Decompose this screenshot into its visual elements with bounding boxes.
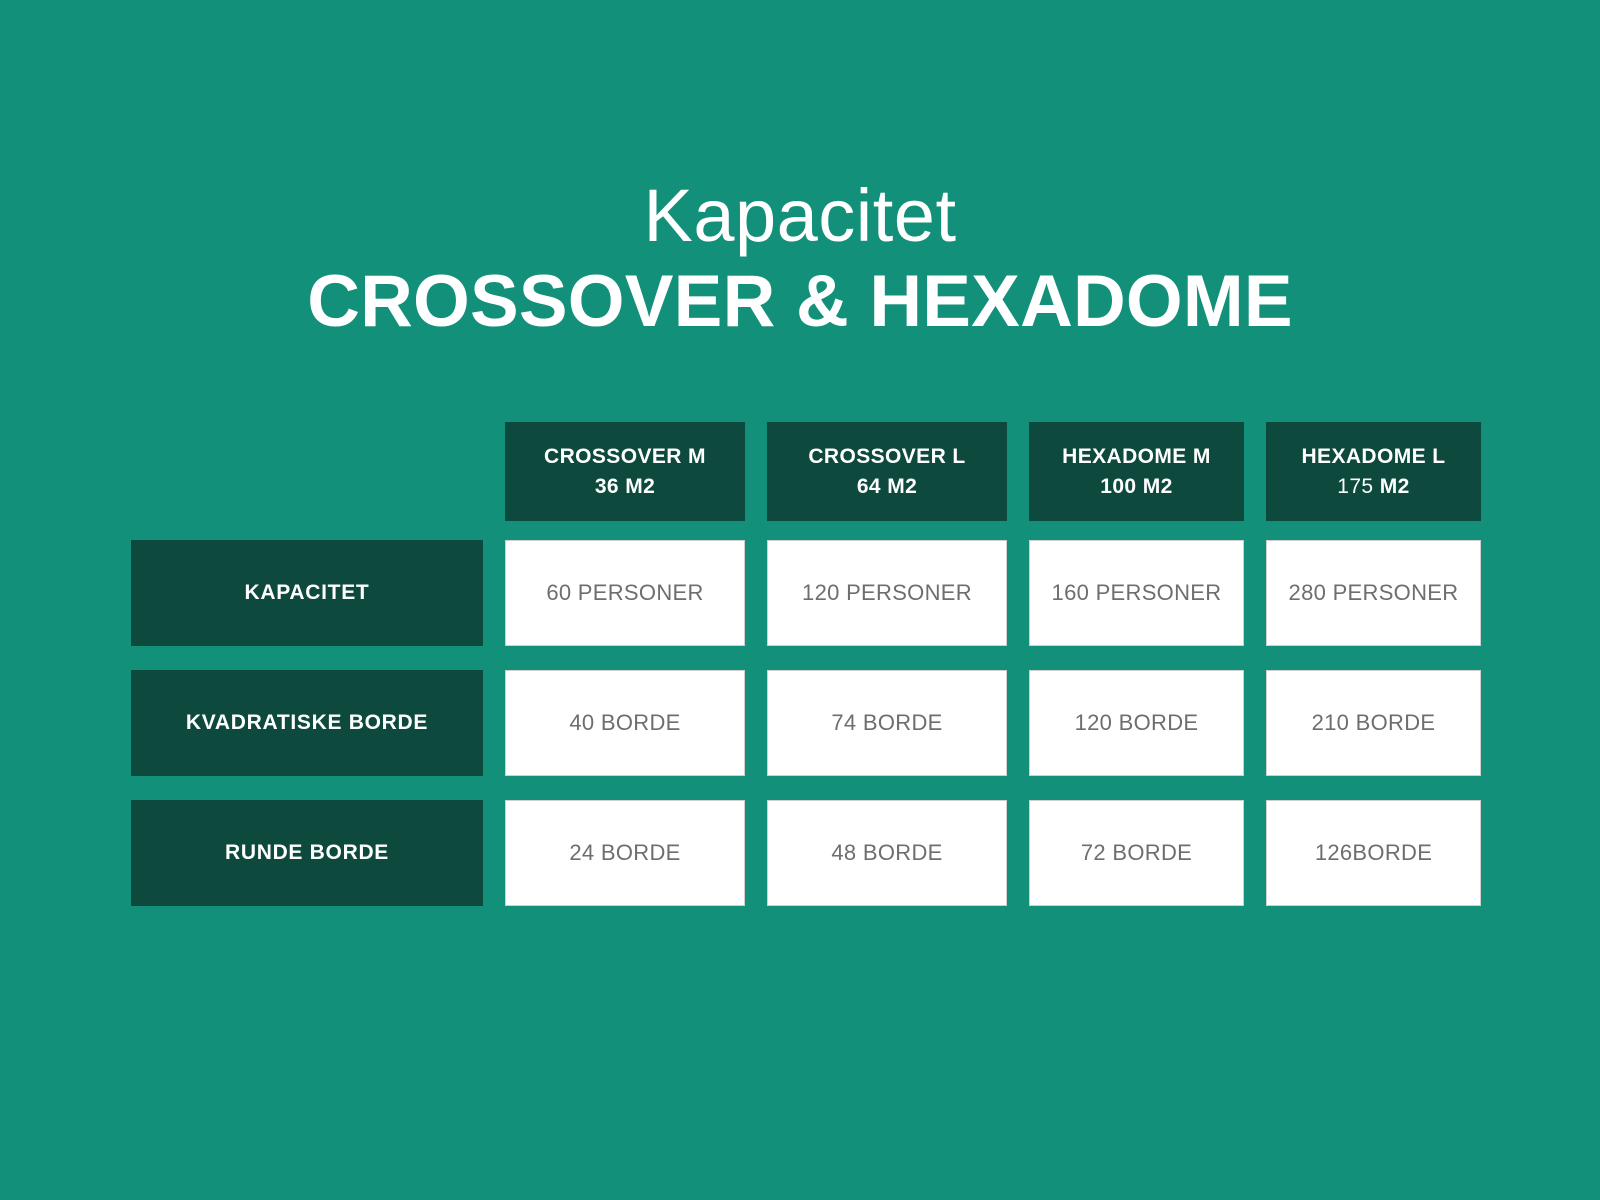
table-cell: 72 BORDE bbox=[1029, 800, 1244, 906]
column-header-hexadome-m: HEXADOME M 100 M2 bbox=[1029, 422, 1244, 521]
table-row: KVADRATISKE BORDE 40 BORDE 74 BORDE 120 … bbox=[131, 670, 1441, 776]
row-header-kvadratiske-borde: KVADRATISKE BORDE bbox=[131, 670, 483, 776]
table-row: RUNDE BORDE 24 BORDE 48 BORDE 72 BORDE 1… bbox=[131, 800, 1441, 906]
column-header-area-unit: M2 bbox=[1380, 475, 1410, 498]
column-header-name: CROSSOVER M bbox=[544, 442, 706, 472]
column-header-area: 64 M2 bbox=[857, 472, 917, 502]
table-cell: 24 BORDE bbox=[505, 800, 745, 906]
capacity-slide: Kapacitet CROSSOVER & HEXADOME CROSSOVER… bbox=[0, 0, 1600, 1200]
table-cell: 74 BORDE bbox=[767, 670, 1007, 776]
column-header-area: 36 M2 bbox=[595, 472, 655, 502]
table-cell: 126BORDE bbox=[1266, 800, 1481, 906]
table-row: KAPACITET 60 PERSONER 120 PERSONER 160 P… bbox=[131, 540, 1441, 646]
column-header-name: CROSSOVER L bbox=[808, 442, 965, 472]
table-header-row: CROSSOVER M 36 M2 CROSSOVER L 64 M2 HEXA… bbox=[131, 422, 1441, 521]
table-cell: 60 PERSONER bbox=[505, 540, 745, 646]
table-cell: 120 BORDE bbox=[1029, 670, 1244, 776]
page-title: Kapacitet CROSSOVER & HEXADOME bbox=[0, 178, 1600, 343]
row-header-runde-borde: RUNDE BORDE bbox=[131, 800, 483, 906]
column-header-area: 175 M2 bbox=[1337, 472, 1409, 502]
table-cell: 210 BORDE bbox=[1266, 670, 1481, 776]
column-header-area: 100 M2 bbox=[1100, 472, 1172, 502]
column-header-hexadome-l: HEXADOME L 175 M2 bbox=[1266, 422, 1481, 521]
table-cell: 48 BORDE bbox=[767, 800, 1007, 906]
column-header-name: HEXADOME L bbox=[1301, 442, 1445, 472]
column-header-area-number: 175 bbox=[1337, 475, 1373, 498]
page-title-line-1: Kapacitet bbox=[0, 178, 1600, 253]
table-cell: 40 BORDE bbox=[505, 670, 745, 776]
row-header-kapacitet: KAPACITET bbox=[131, 540, 483, 646]
column-header-name: HEXADOME M bbox=[1062, 442, 1211, 472]
column-header-crossover-m: CROSSOVER M 36 M2 bbox=[505, 422, 745, 521]
table-cell: 280 PERSONER bbox=[1266, 540, 1481, 646]
table-cell: 120 PERSONER bbox=[767, 540, 1007, 646]
table-corner-cell bbox=[131, 422, 483, 521]
capacity-table: CROSSOVER M 36 M2 CROSSOVER L 64 M2 HEXA… bbox=[131, 422, 1441, 906]
page-title-line-2: CROSSOVER & HEXADOME bbox=[0, 261, 1600, 343]
column-header-crossover-l: CROSSOVER L 64 M2 bbox=[767, 422, 1007, 521]
table-cell: 160 PERSONER bbox=[1029, 540, 1244, 646]
